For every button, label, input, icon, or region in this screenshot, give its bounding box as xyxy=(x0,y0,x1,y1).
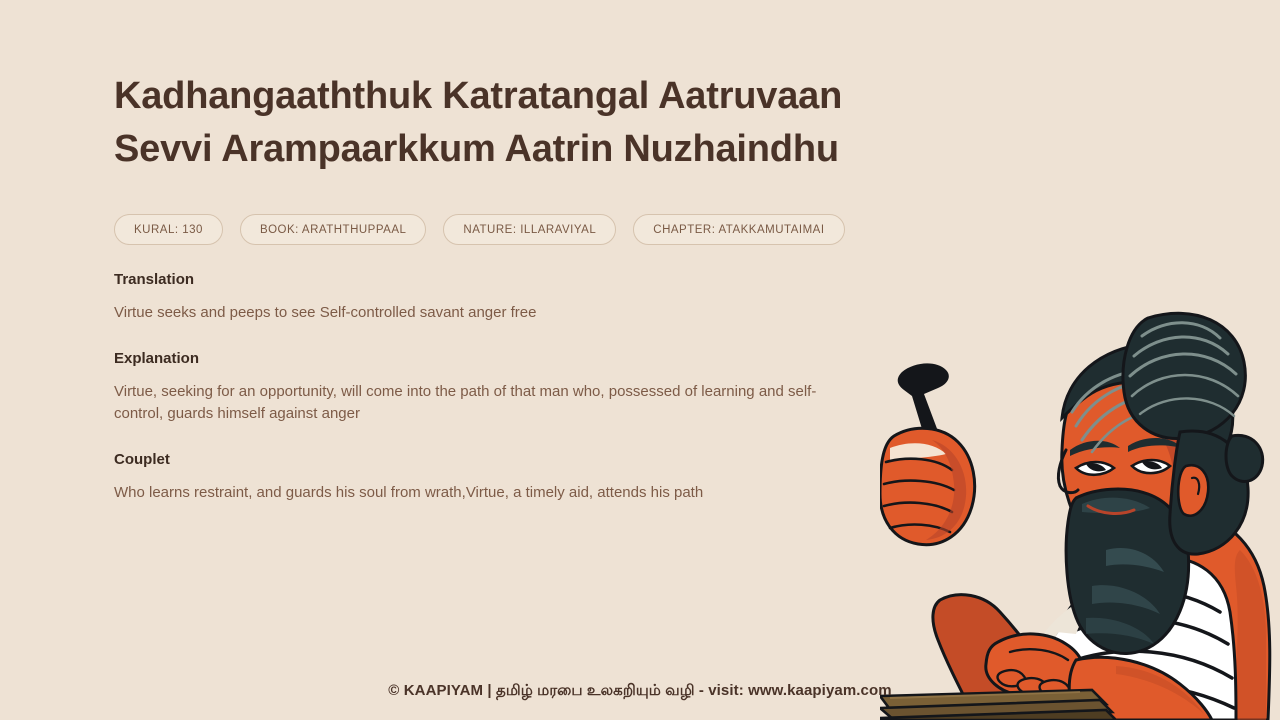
section-translation: Translation Virtue seeks and peeps to se… xyxy=(114,271,914,324)
meta-pill-kural[interactable]: KURAL: 130 xyxy=(114,214,223,245)
kural-content: Kadhangaaththuk Katratangal Aatruvaan Se… xyxy=(114,70,914,504)
page-title: Kadhangaaththuk Katratangal Aatruvaan Se… xyxy=(114,70,914,176)
meta-pill-row: KURAL: 130 BOOK: ARATHTHUPPAAL NATURE: I… xyxy=(114,214,914,245)
thiruvalluvar-writing-illustration xyxy=(880,300,1280,720)
footer-credit: © KAAPIYAM | தமிழ் மரபை உலகறியும் வழி - … xyxy=(0,681,1280,701)
meta-pill-chapter[interactable]: CHAPTER: ATAKKAMUTAIMAI xyxy=(633,214,844,245)
section-label-explanation: Explanation xyxy=(114,350,914,368)
section-couplet: Couplet Who learns restraint, and guards… xyxy=(114,451,914,504)
section-text-explanation: Virtue, seeking for an opportunity, will… xyxy=(114,381,844,425)
section-text-couplet: Who learns restraint, and guards his sou… xyxy=(114,482,844,504)
kural-card-page: Kadhangaaththuk Katratangal Aatruvaan Se… xyxy=(0,0,1280,720)
section-label-couplet: Couplet xyxy=(114,451,914,469)
meta-pill-book[interactable]: BOOK: ARATHTHUPPAAL xyxy=(240,214,426,245)
section-explanation: Explanation Virtue, seeking for an oppor… xyxy=(114,350,914,425)
meta-pill-nature[interactable]: NATURE: ILLARAVIYAL xyxy=(443,214,616,245)
section-label-translation: Translation xyxy=(114,271,914,289)
section-text-translation: Virtue seeks and peeps to see Self-contr… xyxy=(114,302,844,324)
